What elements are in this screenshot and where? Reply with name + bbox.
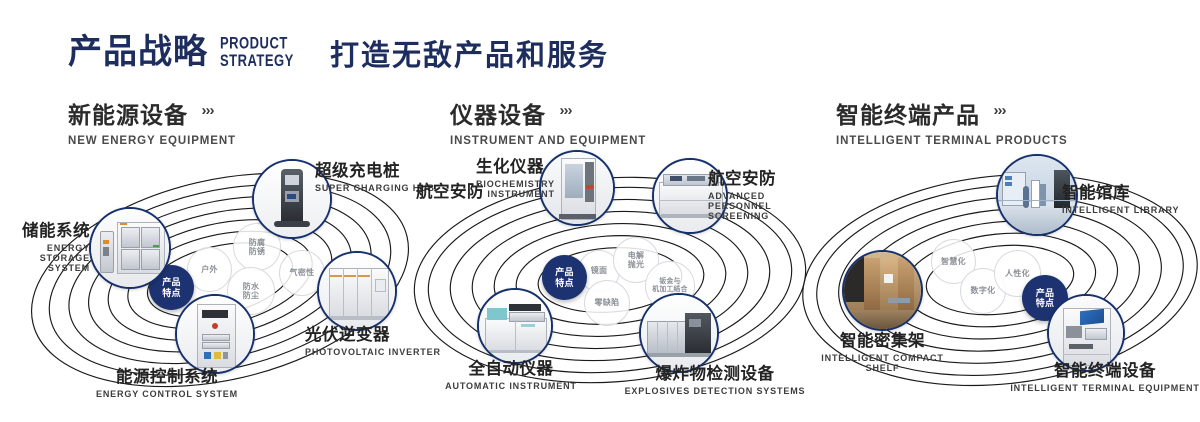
node-label-en: INTELLIGENT LIBRARY (1062, 205, 1179, 215)
section-title-new-energy: 新能源设备 ››› NEW ENERGY EQUIPMENT (68, 96, 236, 147)
node-label-cn: 全自动仪器 (405, 355, 617, 379)
node-label-en: BIOCHEMISTRY INSTRUMENT (476, 179, 555, 199)
label-biochemistry-instrument: 生化仪器 BIOCHEMISTRY INSTRUMENT (476, 153, 555, 199)
core-label-line2: 特点 (555, 278, 574, 288)
photo-energy-storage (91, 209, 169, 287)
node-label-cn: 智能终端设备 (1010, 357, 1200, 381)
page-title-en-line2: STRATEGY (220, 52, 294, 69)
section-title-instrument: 仪器设备 ››› INSTRUMENT AND EQUIPMENT (450, 96, 646, 147)
cluster-instrument: 镜面 电解 抛光 钣金与 机加工结合 零缺陷 产品 特点 航空安防 (410, 155, 810, 405)
node-intelligent-compact-shelf[interactable] (842, 250, 923, 331)
label-energy-control-system: 能源控制系统 ENERGY CONTROL SYSTEM (72, 363, 262, 399)
node-label-en: ENERGY STORAGE SYSTEM (0, 243, 90, 273)
page-header: 产品战略 PRODUCT STRATEGY (68, 24, 294, 80)
node-label-cn: 储能系统 (0, 217, 90, 241)
core-label-line1: 产品 (555, 267, 574, 277)
node-energy-control-system[interactable] (175, 294, 255, 374)
label-energy-storage-system: 储能系统 ENERGY STORAGE SYSTEM (0, 217, 90, 273)
label-advanced-personnel-screening: 航空安防 ADVANCED PERSONNEL SCREENING (708, 165, 810, 221)
node-label-cn: 航空安防 (708, 165, 810, 189)
cluster-new-energy: 户外 防腐 防锈 防水 防尘 气密性 产品 特点 (20, 155, 420, 405)
feature-label: 智慧化 (941, 257, 966, 266)
chevron-right-icon: ››› (201, 102, 213, 119)
product-strategy-infographic: 产品战略 PRODUCT STRATEGY 打造无敌产品和服务 新能源设备 ››… (0, 0, 1200, 422)
page-title-en: PRODUCT STRATEGY (220, 35, 294, 69)
node-label-cn: 生化仪器 (476, 153, 555, 177)
feature-label: 电解 抛光 (628, 251, 645, 269)
section-title-cn: 智能终端产品 (836, 96, 980, 130)
label-automatic-instrument: 全自动仪器 AUTOMATIC INSTRUMENT (405, 355, 617, 391)
chevron-right-icon: ››› (993, 102, 1005, 119)
feature-label: 人性化 (1005, 269, 1030, 278)
feature-label: 钣金与 机加工结合 (652, 278, 687, 294)
photo-compact-shelf (844, 252, 921, 329)
node-energy-storage-system[interactable] (89, 207, 171, 289)
feature-label: 防腐 防锈 (249, 238, 266, 256)
section-title-intelligent-terminal: 智能终端产品 ››› INTELLIGENT TERMINAL PRODUCTS (836, 96, 1068, 147)
feature-label: 镜面 (591, 266, 608, 275)
section-title-cn: 仪器设备 (450, 96, 546, 130)
node-label-cn: 智能馆库 (1062, 179, 1179, 203)
section-title-en: INTELLIGENT TERMINAL PRODUCTS (836, 135, 1068, 147)
node-photovoltaic-inverter[interactable] (317, 251, 397, 331)
label-intelligent-terminal-equipment: 智能终端设备 INTELLIGENT TERMINAL EQUIPMENT (1010, 357, 1200, 393)
photo-energy-control (177, 296, 253, 372)
feature-label: 户外 (201, 265, 218, 274)
photo-automatic-instrument (479, 290, 551, 362)
node-label-en: EXPLOSIVES DETECTION SYSTEMS (600, 386, 830, 396)
node-label-en: ADVANCED PERSONNEL SCREENING (708, 191, 810, 221)
node-label-cn: 能源控制系统 (72, 363, 262, 387)
node-label-en: ENERGY CONTROL SYSTEM (72, 389, 262, 399)
section-title-cn: 新能源设备 (68, 96, 188, 130)
label-intelligent-compact-shelf: 智能密集架 INTELLIGENT COMPACT SHELF (795, 327, 970, 373)
node-label-cn: 智能密集架 (795, 327, 970, 351)
node-label-en: AUTOMATIC INSTRUMENT (405, 381, 617, 391)
page-slogan: 打造无敌产品和服务 (330, 32, 609, 74)
photo-pv-inverter (319, 253, 395, 329)
section-title-en: INSTRUMENT AND EQUIPMENT (450, 135, 646, 147)
cluster-intelligent-terminal: 智慧化 数字化 人性化 产品 特点 智 (800, 155, 1200, 405)
page-title-en-line1: PRODUCT (220, 35, 294, 52)
chevron-right-icon: ››› (559, 102, 571, 119)
node-label-cn: 航空安防 (416, 178, 484, 202)
label-intelligent-library: 智能馆库 INTELLIGENT LIBRARY (1062, 179, 1179, 215)
label-aviation-security: 航空安防 (416, 178, 484, 202)
feature-label: 数字化 (971, 286, 996, 295)
node-label-en: INTELLIGENT COMPACT SHELF (795, 353, 970, 373)
page-title-cn: 产品战略 (68, 35, 208, 69)
feature-label: 气密性 (290, 268, 315, 277)
node-automatic-instrument[interactable] (477, 288, 553, 364)
node-label-en: INTELLIGENT TERMINAL EQUIPMENT (1010, 383, 1200, 393)
feature-label: 零缺陷 (595, 298, 620, 307)
feature-bubble: 零缺陷 (584, 280, 630, 326)
section-title-en: NEW ENERGY EQUIPMENT (68, 135, 236, 147)
